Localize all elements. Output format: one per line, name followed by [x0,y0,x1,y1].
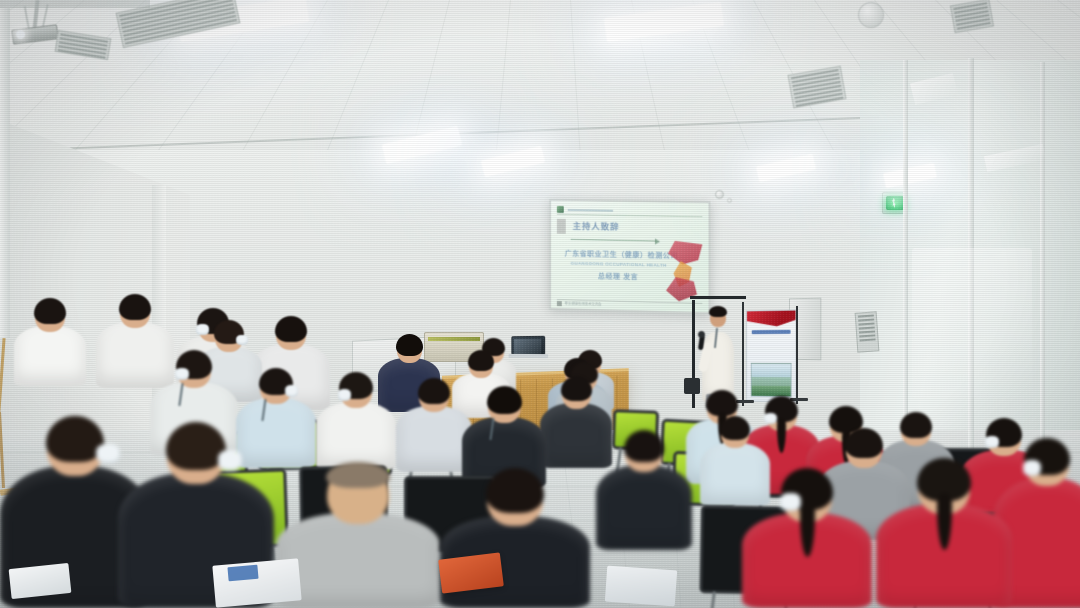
attendee-hair [166,422,226,470]
attendee-hair [119,294,151,320]
banner-pole-left [742,302,744,406]
face-mask [780,493,801,511]
attendee-front-6-red [742,470,872,608]
attendee-hair [418,378,450,404]
attendee-hair [468,350,494,371]
face-mask [175,368,189,380]
attendee-torso [596,465,692,550]
attendee-hair [720,416,750,440]
attendee-hair [624,430,664,462]
attendee-hair [275,316,307,342]
chair-leg [710,591,716,608]
presenter-hair [709,306,727,317]
whiteboard-frame-top [690,296,746,299]
attendee-torso [14,326,86,386]
attendee-front-7-red [876,460,1012,608]
attendee-hair [561,376,592,401]
attendee-mid-3 [316,374,396,470]
face-mask [1023,460,1041,476]
handout-blue-block [227,565,258,582]
attendee-hair [396,334,423,356]
seminar-room-photo: 主持人致辞 广东省职业卫生（健康）检测公司 GUANGDONG OCCUPATI… [0,0,1080,608]
attendee-back-1 [14,300,86,386]
face-mask [338,389,351,401]
face-mask [96,444,120,464]
attendee-hair [326,462,390,488]
face-mask [236,335,248,345]
notebook-white [605,566,677,607]
paper-sheet-left [9,563,72,599]
attendee-hair [486,468,544,513]
attendee-front-5 [596,432,692,550]
banner-pole-right [796,306,798,404]
audience-and-presenter [0,0,1080,608]
attendee-mid-4 [396,380,472,472]
attendee-front-3-bald [276,462,440,608]
microphone-head-icon [698,331,705,338]
face-mask [218,450,242,470]
presenter-with-microphone [700,306,736,402]
attendee-hair [487,386,522,414]
attendee-hair [845,428,883,458]
attendee-hair [34,298,66,324]
face-mask [285,385,298,397]
attendee-torso [316,402,396,470]
